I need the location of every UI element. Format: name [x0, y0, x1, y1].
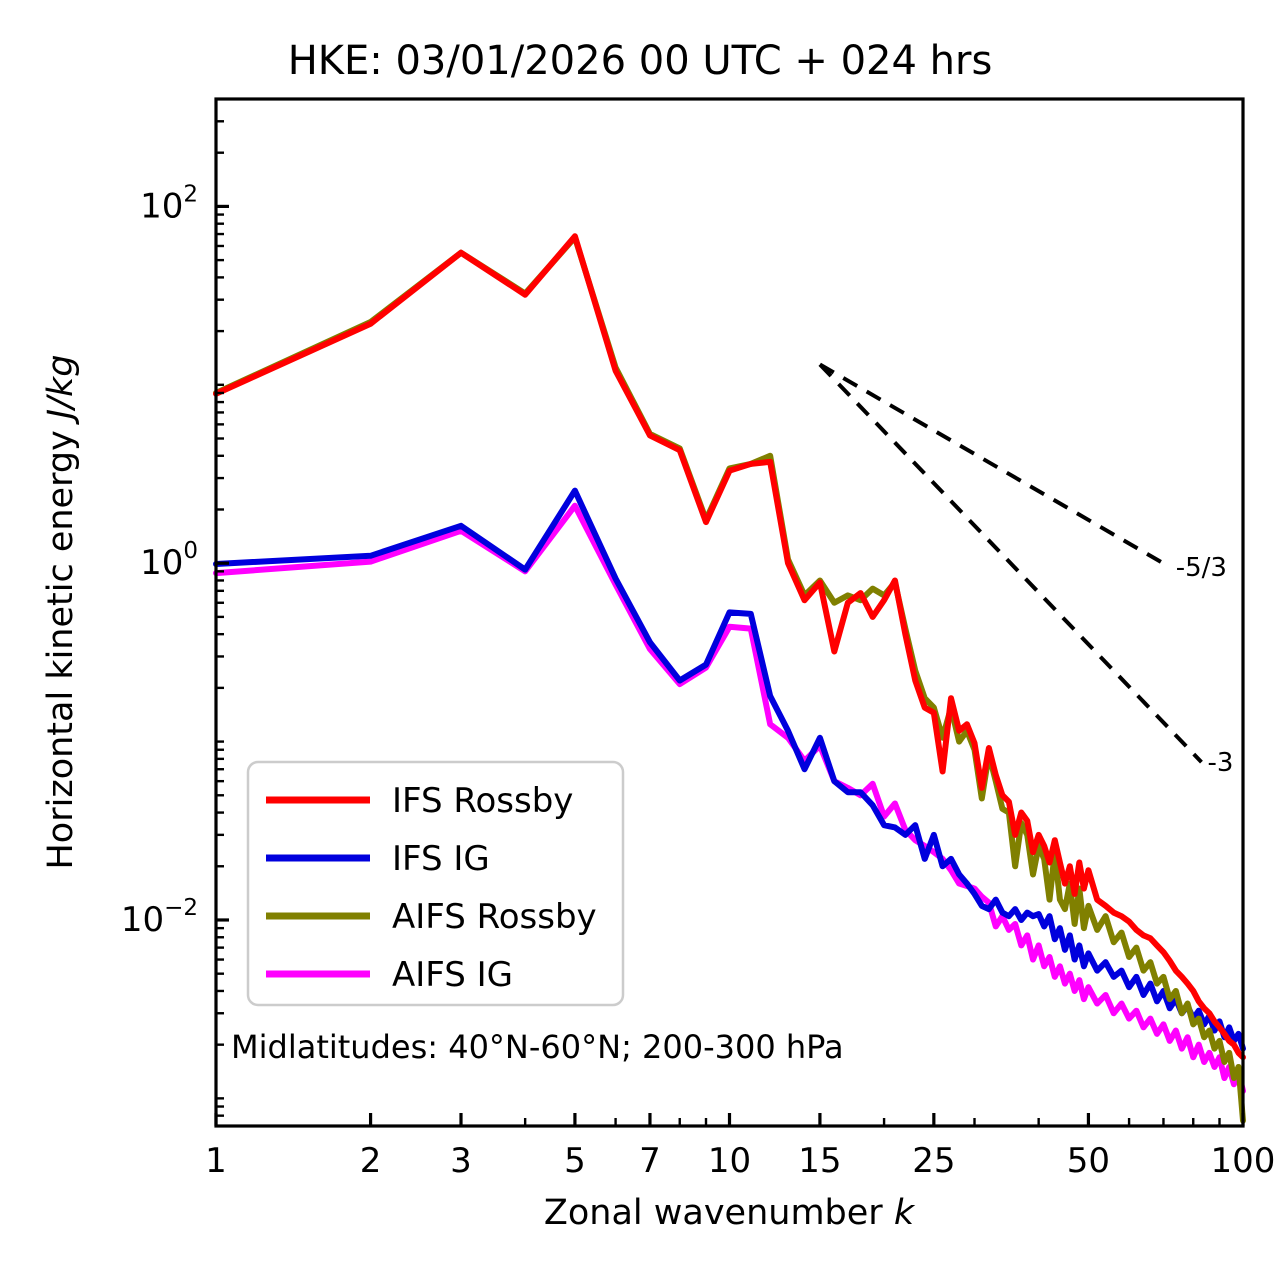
region-annotation: Midlatitudes: 40°N-60°N; 200-300 hPa [231, 1028, 844, 1066]
x-tick-label-1: 1 [205, 1141, 227, 1181]
x-tick-label-15: 15 [798, 1141, 841, 1181]
legend-label-aifs-rossby[interactable]: AIFS Rossby [392, 897, 597, 937]
legend-label-ifs-rossby[interactable]: IFS Rossby [392, 781, 573, 821]
x-axis-label: Zonal wavenumber k [544, 1193, 916, 1233]
x-tick-label-50: 50 [1067, 1141, 1110, 1181]
reference-line-label-three: -3 [1207, 748, 1233, 778]
y-axis-tick-labels: 10210010−2 [121, 181, 198, 940]
chart-figure: HKE: 03/01/2026 00 UTC + 024 hrs 1235710… [0, 0, 1280, 1288]
x-axis-tick-labels: 1235710152550100 [205, 1141, 1275, 1181]
y-axis-label: Horizontal kinetic energy J/kg [41, 354, 81, 869]
reference-line-label-five-thirds: -5/3 [1176, 553, 1227, 583]
x-tick-label-5: 5 [564, 1141, 586, 1181]
x-tick-label-10: 10 [708, 1141, 751, 1181]
legend-label-aifs-ig[interactable]: AIFS IG [392, 955, 513, 995]
x-tick-label-3: 3 [450, 1141, 472, 1181]
y-tick-label-2: 10−2 [121, 895, 198, 940]
x-tick-label-25: 25 [912, 1141, 955, 1181]
y-tick-label-0: 102 [140, 181, 198, 226]
chart-plot-area: 1235710152550100 10210010−2 -5/3-3 Zonal… [0, 0, 1280, 1288]
x-axis-ticks [216, 1113, 1243, 1126]
legend-label-ifs-ig[interactable]: IFS IG [392, 839, 490, 879]
chart-legend: IFS RossbyIFS IGAIFS RossbyAIFS IG [248, 762, 623, 1005]
x-tick-label-2: 2 [360, 1141, 382, 1181]
y-tick-label-1: 100 [140, 538, 198, 583]
x-tick-label-7: 7 [639, 1141, 661, 1181]
x-tick-label-100: 100 [1211, 1141, 1276, 1181]
